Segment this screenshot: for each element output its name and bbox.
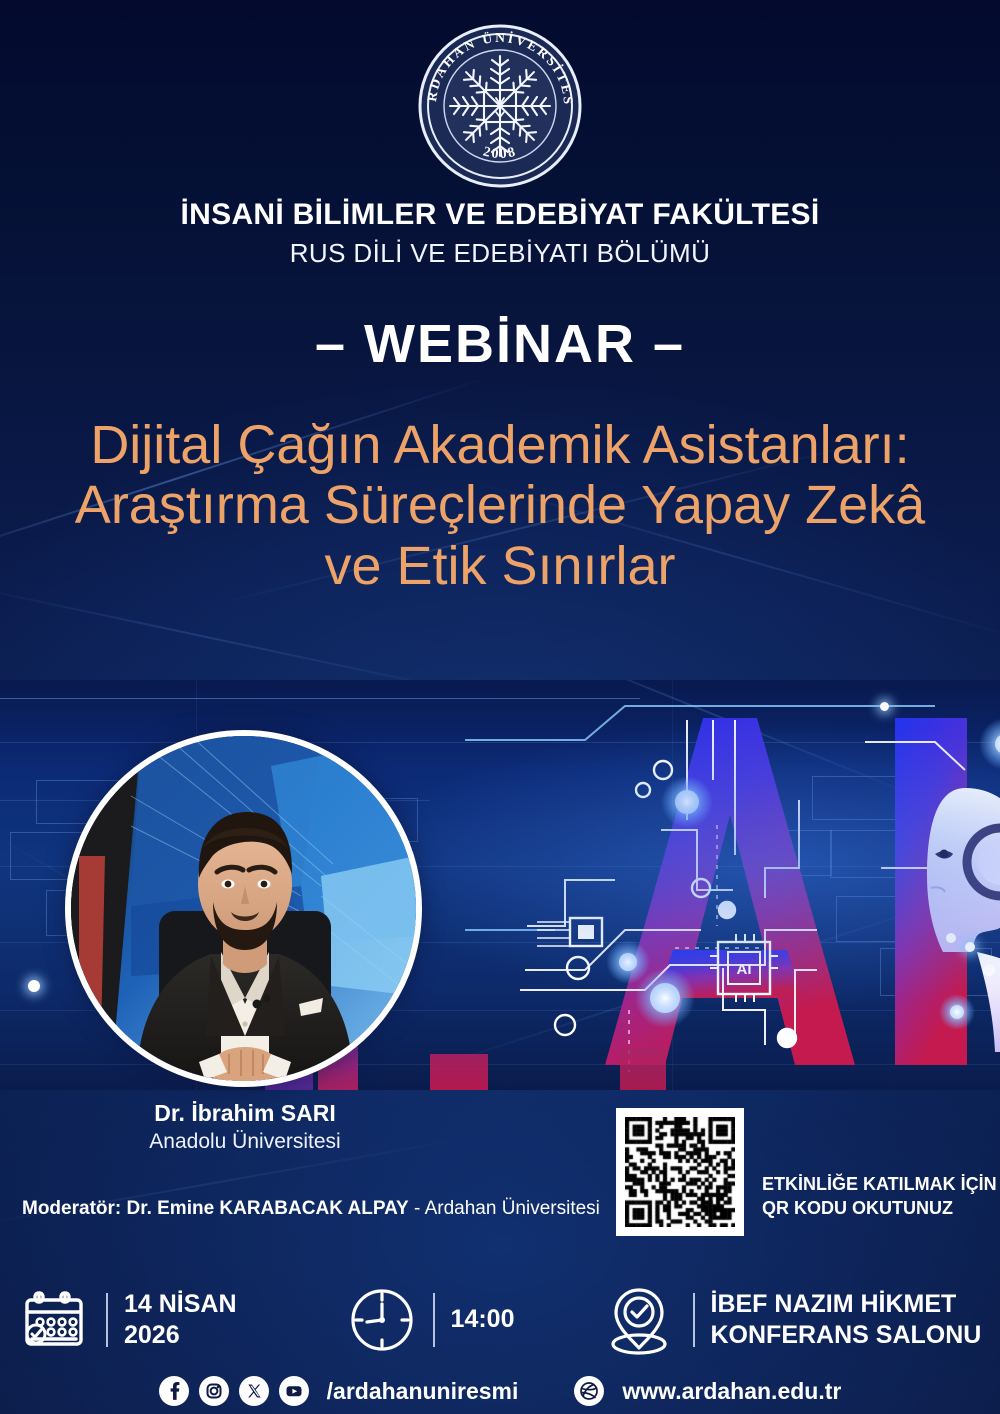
website-url[interactable]: www.ardahan.edu.tr: [622, 1378, 841, 1405]
event-venue-item: İBEF NAZIM HİKMET KONFERANS SALONU: [601, 1282, 982, 1358]
clock-icon: [347, 1285, 417, 1355]
facebook-icon[interactable]: [159, 1376, 189, 1406]
divider: [693, 1293, 695, 1347]
qr-code-image: [625, 1117, 735, 1227]
calendar-icon: [18, 1284, 90, 1356]
event-date-item: 14 NİSAN 2026: [18, 1284, 237, 1356]
event-date: 14 NİSAN 2026: [124, 1289, 237, 1352]
faculty-title: İNSANİ BİLİMLER VE EDEBİYAT FAKÜLTESİ: [0, 198, 1000, 232]
x-icon[interactable]: [239, 1376, 269, 1406]
title-line-2: Araştırma Süreçlerinde Yapay Zekâ: [24, 475, 976, 535]
event-time: 14:00: [451, 1304, 515, 1335]
title-line-1: Dijital Çağın Akademik Asistanları:: [24, 415, 976, 475]
moderator-line: Moderatör: Dr. Emine KARABACAK ALPAY - A…: [22, 1198, 600, 1220]
moderator-label: Moderatör: Dr. Emine KARABACAK ALPAY: [22, 1198, 409, 1219]
speaker-portrait-image: [71, 736, 416, 1081]
chip-label: AI: [737, 961, 752, 978]
webinar-poster: ARDAHAN ÜNİVERSİTESİ 2008: [0, 0, 1000, 1414]
event-details-bar: 14 NİSAN 2026 14:00: [0, 1272, 1000, 1368]
youtube-icon[interactable]: [279, 1376, 309, 1406]
moderator-organization: Ardahan Üniversitesi: [425, 1198, 600, 1219]
event-venue-line-2: KONFERANS SALONU: [711, 1320, 982, 1351]
divider: [433, 1293, 435, 1347]
social-handle[interactable]: /ardahanuniresmi: [327, 1378, 519, 1405]
location-pin-icon: [601, 1282, 677, 1358]
event-date-line-1: 14 NİSAN: [124, 1289, 237, 1320]
instagram-icon[interactable]: [199, 1376, 229, 1406]
event-date-line-2: 2026: [124, 1320, 237, 1351]
qr-instruction: ETKİNLİĞE KATILMAK İÇİN QR KODU OKUTUNUZ: [762, 1172, 997, 1221]
event-venue: İBEF NAZIM HİKMET KONFERANS SALONU: [711, 1289, 982, 1352]
title-line-3: ve Etik Sınırlar: [24, 536, 976, 596]
qr-instruction-line-1: ETKİNLİĞE KATILMAK İÇİN: [762, 1172, 997, 1196]
department-title: RUS DİLİ VE EDEBİYATI BÖLÜMÜ: [0, 238, 1000, 269]
speaker-photo: [65, 730, 422, 1087]
speaker-organization: Anadolu Üniversitesi: [0, 1130, 490, 1154]
robot-head-icon: [927, 788, 1000, 1052]
event-type-label: – WEBİNAR –: [0, 313, 1000, 375]
university-logo: ARDAHAN ÜNİVERSİTESİ 2008: [414, 20, 586, 192]
moderator-separator: -: [409, 1198, 425, 1219]
divider: [106, 1293, 108, 1347]
university-seal-icon: ARDAHAN ÜNİVERSİTESİ 2008: [414, 20, 586, 192]
ai-letters-graphic: AI: [465, 680, 1000, 1090]
event-time-item: 14:00: [347, 1285, 515, 1355]
qr-code[interactable]: [616, 1108, 744, 1236]
social-footer: /ardahanuniresmi www.ardahan.edu.tr: [0, 1368, 1000, 1414]
speaker-name: Dr. İbrahim SARI: [0, 1100, 490, 1127]
web-globe-icon[interactable]: [574, 1376, 604, 1406]
qr-instruction-line-2: QR KODU OKUTUNUZ: [762, 1196, 997, 1220]
event-venue-line-1: İBEF NAZIM HİKMET: [711, 1289, 982, 1320]
page-title: Dijital Çağın Akademik Asistanları: Araş…: [0, 415, 1000, 596]
